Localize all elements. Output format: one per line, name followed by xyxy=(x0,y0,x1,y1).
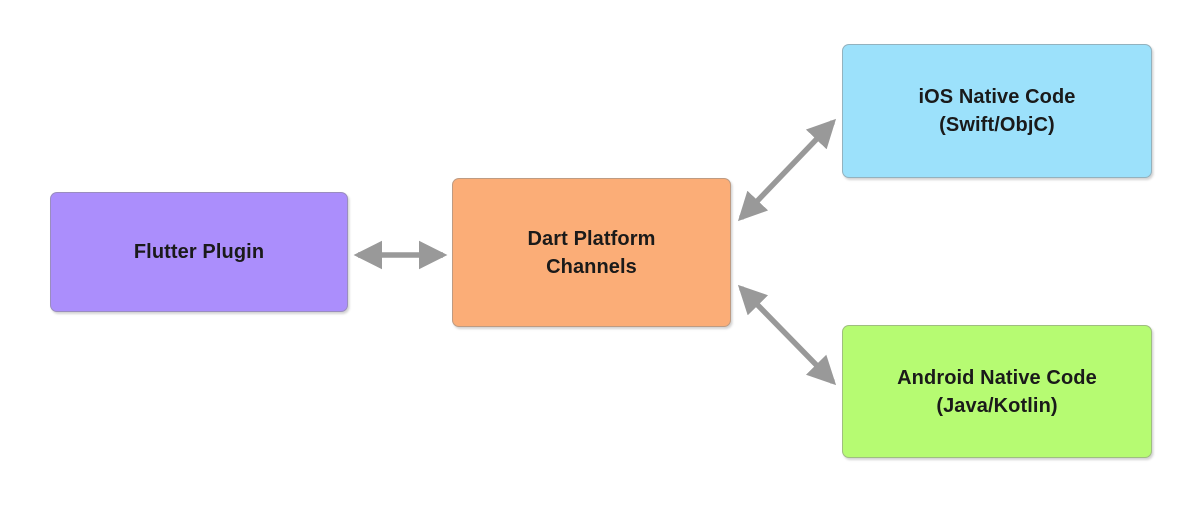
connector-channels-to-android xyxy=(741,288,833,382)
node-dart-platform-channels[interactable]: Dart Platform Channels xyxy=(452,178,731,327)
node-android-native-code-label: Android Native Code (Java/Kotlin) xyxy=(887,364,1107,420)
connector-channels-to-ios xyxy=(741,122,833,218)
node-flutter-plugin[interactable]: Flutter Plugin xyxy=(50,192,348,312)
node-ios-native-code[interactable]: iOS Native Code (Swift/ObjC) xyxy=(842,44,1152,178)
node-dart-platform-channels-label: Dart Platform Channels xyxy=(518,225,666,281)
node-android-native-code[interactable]: Android Native Code (Java/Kotlin) xyxy=(842,325,1152,458)
node-flutter-plugin-label: Flutter Plugin xyxy=(124,238,274,266)
architecture-diagram: Flutter Plugin Dart Platform Channels iO… xyxy=(0,0,1200,510)
node-ios-native-code-label: iOS Native Code (Swift/ObjC) xyxy=(908,83,1085,139)
